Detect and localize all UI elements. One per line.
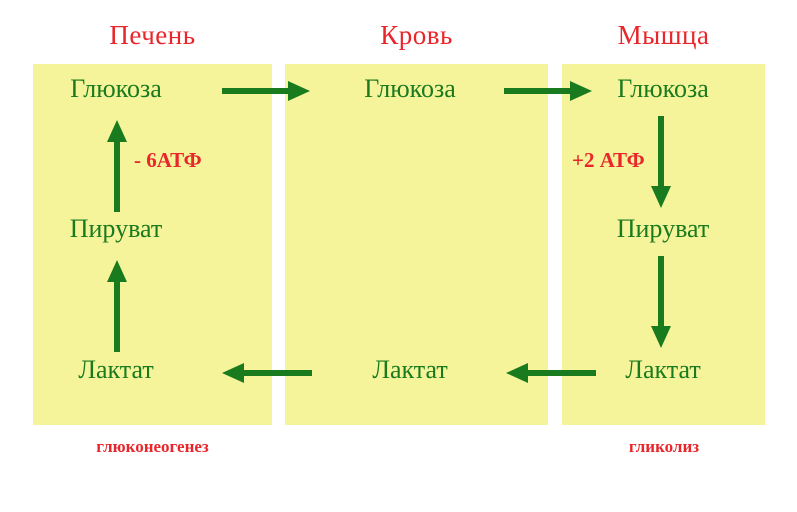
cori-cycle-diagram: Печень Кровь Мышца Глюкоза Пируват Лакта… bbox=[0, 0, 797, 512]
metabolite-liver-lactate: Лактат bbox=[16, 357, 216, 383]
metabolite-liver-glucose: Глюкоза bbox=[16, 76, 216, 102]
arrow-right-liver-glucose-to-blood-glucose bbox=[222, 78, 312, 104]
arrow-up-liver-lactate-to-pyruvate bbox=[104, 256, 130, 352]
annotation-atp-muscle: +2 АТФ bbox=[572, 150, 645, 171]
metabolite-blood-lactate: Лактат bbox=[310, 357, 510, 383]
arrow-left-muscle-lactate-to-blood-lactate bbox=[500, 360, 596, 386]
arrow-right-blood-glucose-to-muscle-glucose bbox=[504, 78, 594, 104]
arrow-down-muscle-glucose-to-pyruvate bbox=[648, 116, 674, 212]
process-label-glycolysis: гликолиз bbox=[560, 438, 768, 455]
column-header-liver: Печень bbox=[33, 22, 272, 49]
arrow-left-blood-lactate-to-liver-lactate bbox=[216, 360, 312, 386]
column-header-blood: Кровь bbox=[285, 22, 548, 49]
annotation-atp-liver: - 6АТФ bbox=[134, 150, 202, 171]
arrow-down-muscle-pyruvate-to-lactate bbox=[648, 256, 674, 352]
metabolite-liver-pyruvate: Пируват bbox=[16, 216, 216, 242]
process-label-gluconeogenesis: глюконеогенез bbox=[30, 438, 275, 455]
metabolite-muscle-pyruvate: Пируват bbox=[563, 216, 763, 242]
metabolite-blood-glucose: Глюкоза bbox=[310, 76, 510, 102]
column-header-muscle: Мышца bbox=[562, 22, 765, 49]
arrow-up-liver-pyruvate-to-glucose bbox=[104, 116, 130, 212]
